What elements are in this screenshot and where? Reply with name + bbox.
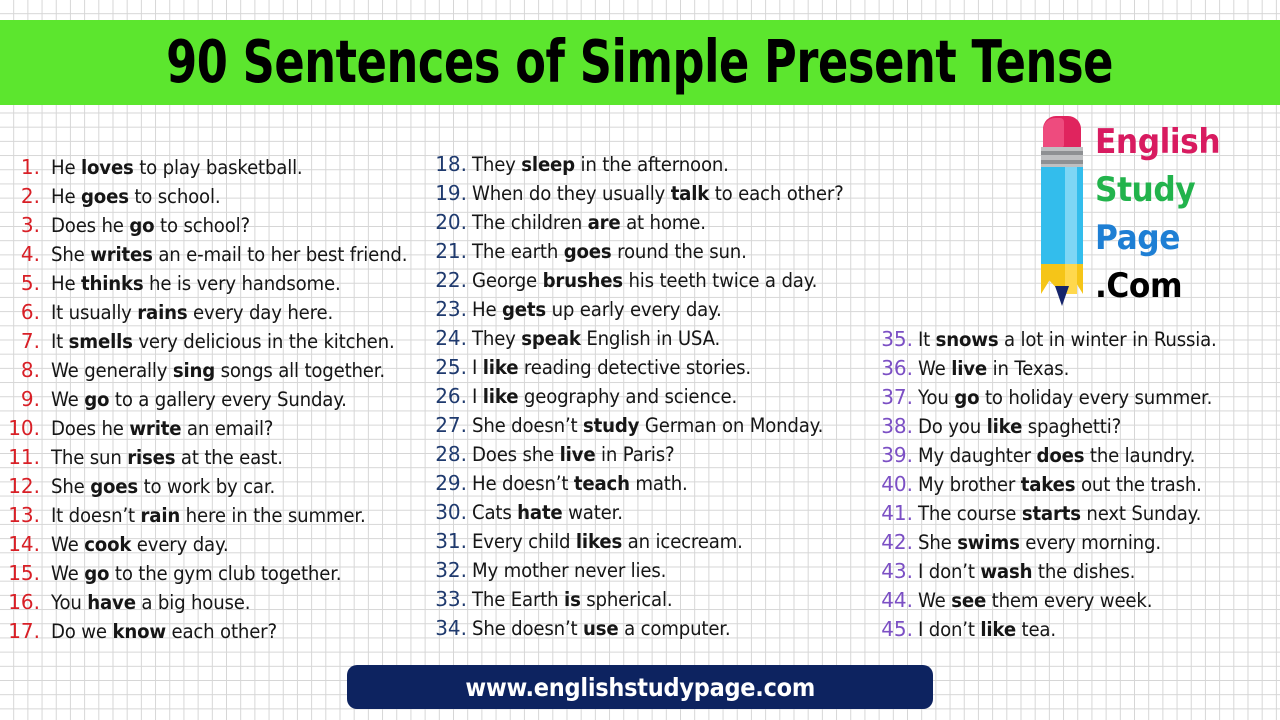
- sentence-number: 13.: [8, 503, 40, 527]
- sentence-number: 35.: [880, 327, 913, 351]
- highlighted-verb: use: [583, 617, 618, 640]
- sentence-row: 29.He doesn’t teach math.: [434, 471, 880, 500]
- highlighted-verb: goes: [90, 475, 138, 498]
- sentence-suffix: up early every day.: [546, 298, 722, 321]
- highlighted-verb: goes: [564, 240, 612, 263]
- sentence-text: It snows a lot in winter in Russia.: [918, 328, 1217, 351]
- sentence-number: 1.: [8, 155, 40, 179]
- sentence-text: I don’t like tea.: [918, 618, 1056, 641]
- footer-url-bar[interactable]: www.englishstudypage.com: [347, 665, 933, 709]
- sentence-prefix: The children: [472, 211, 588, 234]
- sentence-row: 25.I like reading detective stories.: [434, 355, 880, 384]
- sentence-suffix: round the sun.: [612, 240, 747, 263]
- sentence-number: 11.: [8, 445, 40, 469]
- sentence-suffix: an icecream.: [622, 530, 743, 553]
- sentence-text: The earth goes round the sun.: [472, 240, 747, 263]
- sentence-number: 17.: [8, 619, 40, 643]
- highlighted-verb: talk: [671, 182, 709, 205]
- sentence-text: She goes to work by car.: [51, 475, 275, 498]
- sentence-suffix: next Sunday.: [1081, 502, 1201, 525]
- logo-line-english: English: [1095, 118, 1220, 166]
- pencil-ferrule-band-top: [1041, 151, 1083, 155]
- highlighted-verb: takes: [1021, 473, 1076, 496]
- sentence-suffix: geography and science.: [518, 385, 737, 408]
- sentence-suffix: water.: [563, 501, 623, 524]
- sentence-number: 15.: [8, 561, 40, 585]
- sentence-suffix: spherical.: [581, 588, 673, 611]
- sentence-text: He thinks he is very handsome.: [51, 272, 341, 295]
- sentence-text: I like reading detective stories.: [472, 356, 751, 379]
- sentence-prefix: She doesn’t: [472, 617, 583, 640]
- sentence-row: 30.Cats hate water.: [434, 500, 880, 529]
- sentence-prefix: Do you: [918, 415, 987, 438]
- sentence-suffix: math.: [630, 472, 688, 495]
- sentence-row: 1.He loves to play basketball.: [8, 155, 432, 184]
- highlighted-verb: like: [980, 618, 1016, 641]
- sentence-number: 2.: [8, 184, 40, 208]
- sentence-prefix: She: [51, 243, 90, 266]
- sentence-row: 8.We generally sing songs all together.: [8, 358, 432, 387]
- sentence-prefix: Every child: [472, 530, 576, 553]
- sentence-prefix: The Earth: [472, 588, 564, 611]
- sentence-number: 34.: [434, 616, 467, 640]
- sentence-suffix: every day.: [131, 533, 228, 556]
- highlighted-verb: wash: [980, 560, 1032, 583]
- sentence-row: 19.When do they usually talk to each oth…: [434, 181, 880, 210]
- sentence-prefix: I don’t: [918, 560, 980, 583]
- sentence-suffix: to school.: [129, 185, 221, 208]
- sentence-number: 41.: [880, 501, 913, 525]
- sentence-row: 42.She swims every morning.: [880, 530, 1276, 559]
- highlighted-verb: go: [954, 386, 979, 409]
- sentence-text: The course starts next Sunday.: [918, 502, 1201, 525]
- highlighted-verb: speak: [521, 327, 580, 350]
- sentence-row: 45.I don’t like tea.: [880, 617, 1276, 646]
- sentence-row: 44.We see them every week.: [880, 588, 1276, 617]
- sentence-row: 22.George brushes his teeth twice a day.: [434, 268, 880, 297]
- highlighted-verb: sing: [173, 359, 215, 382]
- sentence-text: You have a big house.: [51, 591, 250, 614]
- sentence-row: 21.The earth goes round the sun.: [434, 239, 880, 268]
- sentence-number: 12.: [8, 474, 40, 498]
- highlighted-verb: go: [129, 214, 154, 237]
- highlighted-verb: write: [129, 417, 181, 440]
- highlighted-verb: live: [560, 443, 596, 466]
- sentence-row: 12.She goes to work by car.: [8, 474, 432, 503]
- sentence-row: 40.My brother takes out the trash.: [880, 472, 1276, 501]
- highlighted-verb: is: [564, 588, 581, 611]
- sentence-text: They sleep in the afternoon.: [472, 153, 729, 176]
- sentence-suffix: reading detective stories.: [518, 356, 751, 379]
- sentence-suffix: spaghetti?: [1022, 415, 1121, 438]
- sentence-text: My brother takes out the trash.: [918, 473, 1202, 496]
- sentence-suffix: them every week.: [986, 589, 1152, 612]
- sentence-prefix: My mother never lies.: [472, 559, 666, 582]
- sentence-prefix: He: [51, 185, 81, 208]
- sentence-text: The children are at home.: [472, 211, 706, 234]
- sentence-suffix: to a gallery every Sunday.: [109, 388, 346, 411]
- sentence-row: 36.We live in Texas.: [880, 356, 1276, 385]
- sentence-row: 9.We go to a gallery every Sunday.: [8, 387, 432, 416]
- pencil-graphite-tip: [1055, 286, 1069, 306]
- sentence-text: My mother never lies.: [472, 559, 666, 582]
- sentence-prefix: They: [472, 327, 521, 350]
- sentence-prefix: Do we: [51, 620, 112, 643]
- sentence-row: 4.She writes an e-mail to her best frien…: [8, 242, 432, 271]
- sentence-prefix: I don’t: [918, 618, 980, 641]
- highlighted-verb: cook: [84, 533, 131, 556]
- sentence-number: 14.: [8, 532, 40, 556]
- sentence-suffix: an email?: [181, 417, 273, 440]
- sentence-prefix: Does he: [51, 417, 129, 440]
- sentence-text: Cats hate water.: [472, 501, 623, 524]
- sentence-text: Does she live in Paris?: [472, 443, 674, 466]
- sentence-prefix: We: [918, 357, 951, 380]
- sentence-prefix: It: [918, 328, 936, 351]
- sentence-number: 28.: [434, 442, 467, 466]
- sentence-text: I like geography and science.: [472, 385, 737, 408]
- highlighted-verb: swims: [957, 531, 1020, 554]
- highlighted-verb: see: [951, 589, 986, 612]
- sentence-row: 34.She doesn’t use a computer.: [434, 616, 880, 645]
- sentence-text: We see them every week.: [918, 589, 1152, 612]
- highlighted-verb: rises: [127, 446, 175, 469]
- sentence-prefix: He: [51, 156, 81, 179]
- sentence-suffix: at home.: [621, 211, 706, 234]
- sentence-text: Do you like spaghetti?: [918, 415, 1121, 438]
- sentence-text: He doesn’t teach math.: [472, 472, 688, 495]
- sentence-prefix: He doesn’t: [472, 472, 574, 495]
- sentence-row: 11.The sun rises at the east.: [8, 445, 432, 474]
- sentence-prefix: It doesn’t: [51, 504, 141, 527]
- sentence-row: 17.Do we know each other?: [8, 619, 432, 648]
- sentence-row: 43.I don’t wash the dishes.: [880, 559, 1276, 588]
- sentence-number: 37.: [880, 385, 913, 409]
- highlighted-verb: study: [583, 414, 639, 437]
- sentence-number: 27.: [434, 413, 467, 437]
- sentence-suffix: to work by car.: [138, 475, 275, 498]
- sentence-suffix: a computer.: [619, 617, 731, 640]
- sentence-prefix: The course: [918, 502, 1022, 525]
- sentence-suffix: an e-mail to her best friend.: [153, 243, 408, 266]
- sentence-prefix: You: [51, 591, 87, 614]
- highlighted-verb: like: [483, 385, 519, 408]
- pencil-eraser-highlight: [1043, 118, 1064, 147]
- sentence-text: We cook every day.: [51, 533, 228, 556]
- sentence-number: 22.: [434, 268, 467, 292]
- sentence-suffix: to each other?: [709, 182, 843, 205]
- page-title: 90 Sentences of Simple Present Tense: [167, 33, 1114, 92]
- sentence-prefix: You: [918, 386, 954, 409]
- sentence-text: Does he write an email?: [51, 417, 273, 440]
- sentence-column-3: 35.It snows a lot in winter in Russia.36…: [880, 327, 1276, 646]
- sentence-suffix: songs all together.: [215, 359, 385, 382]
- sentence-text: She writes an e-mail to her best friend.: [51, 243, 407, 266]
- sentence-prefix: They: [472, 153, 521, 176]
- footer-url-text: www.englishstudypage.com: [465, 673, 815, 702]
- sentence-prefix: The earth: [472, 240, 564, 263]
- sentence-row: 20.The children are at home.: [434, 210, 880, 239]
- highlighted-verb: brushes: [543, 269, 623, 292]
- sentence-text: He gets up early every day.: [472, 298, 722, 321]
- sentence-column-1: 1.He loves to play basketball.2.He goes …: [8, 155, 432, 648]
- sentence-prefix: She: [918, 531, 957, 554]
- sentence-suffix: to holiday every summer.: [979, 386, 1212, 409]
- sentence-row: 5.He thinks he is very handsome.: [8, 271, 432, 300]
- sentence-text: He loves to play basketball.: [51, 156, 303, 179]
- sentence-number: 31.: [434, 529, 467, 553]
- sentence-number: 20.: [434, 210, 467, 234]
- sentence-number: 43.: [880, 559, 913, 583]
- logo-line-com: .Com: [1095, 262, 1220, 310]
- sentence-prefix: Does he: [51, 214, 129, 237]
- sentence-suffix: the laundry.: [1084, 444, 1195, 467]
- pencil-ferrule: [1041, 147, 1083, 167]
- sentence-prefix: She: [51, 475, 90, 498]
- highlighted-verb: starts: [1022, 502, 1081, 525]
- highlighted-verb: goes: [81, 185, 129, 208]
- sentence-text: Every child likes an icecream.: [472, 530, 743, 553]
- sentence-suffix: the dishes.: [1032, 560, 1135, 583]
- sentence-prefix: We generally: [51, 359, 173, 382]
- sentence-number: 9.: [8, 387, 40, 411]
- sentence-row: 14.We cook every day.: [8, 532, 432, 561]
- highlighted-verb: know: [112, 620, 165, 643]
- sentence-suffix: in Texas.: [987, 357, 1069, 380]
- sentence-text: George brushes his teeth twice a day.: [472, 269, 817, 292]
- pencil-ferrule-band-bottom: [1041, 160, 1083, 164]
- sentence-prefix: I: [472, 356, 483, 379]
- highlighted-verb: writes: [90, 243, 153, 266]
- sentence-prefix: When do they usually: [472, 182, 671, 205]
- pencil-body-highlight: [1065, 167, 1077, 264]
- sentence-text: We go to a gallery every Sunday.: [51, 388, 347, 411]
- sentence-prefix: It usually: [51, 301, 137, 324]
- sentence-text: We go to the gym club together.: [51, 562, 341, 585]
- sentence-prefix: We: [918, 589, 951, 612]
- sentence-number: 26.: [434, 384, 467, 408]
- sentence-prefix: We: [51, 388, 84, 411]
- sentence-prefix: He: [51, 272, 81, 295]
- sentence-suffix: his teeth twice a day.: [623, 269, 817, 292]
- sentence-text: The sun rises at the east.: [51, 446, 283, 469]
- sentence-row: 23.He gets up early every day.: [434, 297, 880, 326]
- sentence-number: 30.: [434, 500, 467, 524]
- sentence-row: 35.It snows a lot in winter in Russia.: [880, 327, 1276, 356]
- sentence-row: 10.Does he write an email?: [8, 416, 432, 445]
- sentence-text: He goes to school.: [51, 185, 220, 208]
- sentence-suffix: a lot in winter in Russia.: [998, 328, 1216, 351]
- sentence-number: 44.: [880, 588, 913, 612]
- sentence-suffix: English in USA.: [581, 327, 720, 350]
- sentence-suffix: to the gym club together.: [109, 562, 341, 585]
- highlighted-verb: likes: [576, 530, 622, 553]
- sentence-suffix: every morning.: [1020, 531, 1161, 554]
- highlighted-verb: thinks: [81, 272, 143, 295]
- sentence-suffix: to play basketball.: [134, 156, 303, 179]
- sentence-text: They speak English in USA.: [472, 327, 720, 350]
- sentence-row: 24.They speak English in USA.: [434, 326, 880, 355]
- sentence-prefix: My brother: [918, 473, 1021, 496]
- sentence-suffix: out the trash.: [1075, 473, 1201, 496]
- sentence-prefix: My daughter: [918, 444, 1037, 467]
- sentence-number: 39.: [880, 443, 913, 467]
- sentence-suffix: each other?: [166, 620, 277, 643]
- sentence-number: 6.: [8, 300, 40, 324]
- sentence-row: 7.It smells very delicious in the kitche…: [8, 329, 432, 358]
- sentence-prefix: George: [472, 269, 543, 292]
- sentence-prefix: Cats: [472, 501, 517, 524]
- highlighted-verb: like: [987, 415, 1023, 438]
- sentence-prefix: Does she: [472, 443, 560, 466]
- sentence-number: 21.: [434, 239, 467, 263]
- highlighted-verb: like: [483, 356, 519, 379]
- sentence-text: The Earth is spherical.: [472, 588, 672, 611]
- sentence-prefix: We: [51, 562, 84, 585]
- site-logo[interactable]: EnglishStudyPage.Com: [1040, 116, 1240, 311]
- sentence-prefix: The sun: [51, 446, 127, 469]
- sentence-row: 2.He goes to school.: [8, 184, 432, 213]
- highlighted-verb: gets: [502, 298, 546, 321]
- sentence-number: 29.: [434, 471, 467, 495]
- sentence-number: 4.: [8, 242, 40, 266]
- sentence-row: 27.She doesn’t study German on Monday.: [434, 413, 880, 442]
- highlighted-verb: teach: [574, 472, 630, 495]
- sentence-text: It smells very delicious in the kitchen.: [51, 330, 395, 353]
- highlighted-verb: does: [1037, 444, 1085, 467]
- highlighted-verb: live: [951, 357, 987, 380]
- sentence-text: We live in Texas.: [918, 357, 1069, 380]
- sentence-number: 18.: [434, 152, 467, 176]
- sentence-number: 40.: [880, 472, 913, 496]
- sentence-text: You go to holiday every summer.: [918, 386, 1212, 409]
- sentence-column-2: 18.They sleep in the afternoon.19.When d…: [434, 152, 880, 645]
- highlighted-verb: sleep: [521, 153, 575, 176]
- sentence-text: She swims every morning.: [918, 531, 1161, 554]
- highlighted-verb: rains: [137, 301, 187, 324]
- highlighted-verb: rain: [141, 504, 181, 527]
- sentence-number: 42.: [880, 530, 913, 554]
- sentence-text: My daughter does the laundry.: [918, 444, 1195, 467]
- sentence-text: I don’t wash the dishes.: [918, 560, 1135, 583]
- sentence-row: 13.It doesn’t rain here in the summer.: [8, 503, 432, 532]
- sentence-number: 38.: [880, 414, 913, 438]
- sentence-row: 39.My daughter does the laundry.: [880, 443, 1276, 472]
- sentence-text: Do we know each other?: [51, 620, 277, 643]
- sentence-row: 3.Does he go to school?: [8, 213, 432, 242]
- sentence-suffix: he is very handsome.: [143, 272, 340, 295]
- sentence-text: We generally sing songs all together.: [51, 359, 385, 382]
- pencil-icon: [1040, 116, 1084, 306]
- sentence-number: 23.: [434, 297, 467, 321]
- sentence-number: 25.: [434, 355, 467, 379]
- sentence-row: 15.We go to the gym club together.: [8, 561, 432, 590]
- sentence-row: 38.Do you like spaghetti?: [880, 414, 1276, 443]
- sentence-prefix: He: [472, 298, 502, 321]
- sentence-row: 16.You have a big house.: [8, 590, 432, 619]
- sentence-number: 5.: [8, 271, 40, 295]
- sentence-number: 16.: [8, 590, 40, 614]
- highlighted-verb: are: [588, 211, 621, 234]
- sentence-suffix: in Paris?: [595, 443, 674, 466]
- sentence-text: She doesn’t use a computer.: [472, 617, 730, 640]
- sentence-suffix: here in the summer.: [180, 504, 365, 527]
- highlighted-verb: snows: [936, 328, 999, 351]
- sentence-suffix: at the east.: [175, 446, 282, 469]
- sentence-number: 45.: [880, 617, 913, 641]
- sentence-suffix: every day here.: [187, 301, 333, 324]
- sentence-suffix: German on Monday.: [639, 414, 823, 437]
- highlighted-verb: go: [84, 388, 109, 411]
- sentence-number: 10.: [8, 416, 40, 440]
- sentence-row: 37.You go to holiday every summer.: [880, 385, 1276, 414]
- sentence-number: 33.: [434, 587, 467, 611]
- sentence-suffix: very delicious in the kitchen.: [133, 330, 395, 353]
- sentence-text: It doesn’t rain here in the summer.: [51, 504, 366, 527]
- sentence-suffix: to school?: [154, 214, 249, 237]
- sentence-row: 6.It usually rains every day here.: [8, 300, 432, 329]
- highlighted-verb: loves: [81, 156, 134, 179]
- sentence-number: 3.: [8, 213, 40, 237]
- sentence-suffix: tea.: [1016, 618, 1056, 641]
- sentence-text: When do they usually talk to each other?: [472, 182, 844, 205]
- sentence-suffix: a big house.: [136, 591, 251, 614]
- sentence-text: She doesn’t study German on Monday.: [472, 414, 823, 437]
- sentence-row: 28.Does she live in Paris?: [434, 442, 880, 471]
- sentence-number: 7.: [8, 329, 40, 353]
- sentence-prefix: She doesn’t: [472, 414, 583, 437]
- sentence-text: It usually rains every day here.: [51, 301, 333, 324]
- sentence-suffix: in the afternoon.: [575, 153, 729, 176]
- highlighted-verb: go: [84, 562, 109, 585]
- logo-line-page: Page: [1095, 214, 1220, 262]
- sentence-row: 41.The course starts next Sunday.: [880, 501, 1276, 530]
- sentence-number: 32.: [434, 558, 467, 582]
- sentence-row: 26.I like geography and science.: [434, 384, 880, 413]
- sentence-number: 19.: [434, 181, 467, 205]
- highlighted-verb: smells: [69, 330, 133, 353]
- sentence-row: 32.My mother never lies.: [434, 558, 880, 587]
- title-banner: 90 Sentences of Simple Present Tense: [0, 20, 1280, 105]
- sentence-prefix: I: [472, 385, 483, 408]
- sentence-number: 8.: [8, 358, 40, 382]
- logo-line-study: Study: [1095, 166, 1220, 214]
- sentence-text: Does he go to school?: [51, 214, 250, 237]
- sentence-row: 18.They sleep in the afternoon.: [434, 152, 880, 181]
- sentence-prefix: We: [51, 533, 84, 556]
- highlighted-verb: hate: [517, 501, 562, 524]
- sentence-number: 36.: [880, 356, 913, 380]
- logo-wordmark: EnglishStudyPage.Com: [1095, 116, 1231, 310]
- highlighted-verb: have: [87, 591, 136, 614]
- sentence-number: 24.: [434, 326, 467, 350]
- sentence-prefix: It: [51, 330, 69, 353]
- sentence-row: 31.Every child likes an icecream.: [434, 529, 880, 558]
- sentence-row: 33.The Earth is spherical.: [434, 587, 880, 616]
